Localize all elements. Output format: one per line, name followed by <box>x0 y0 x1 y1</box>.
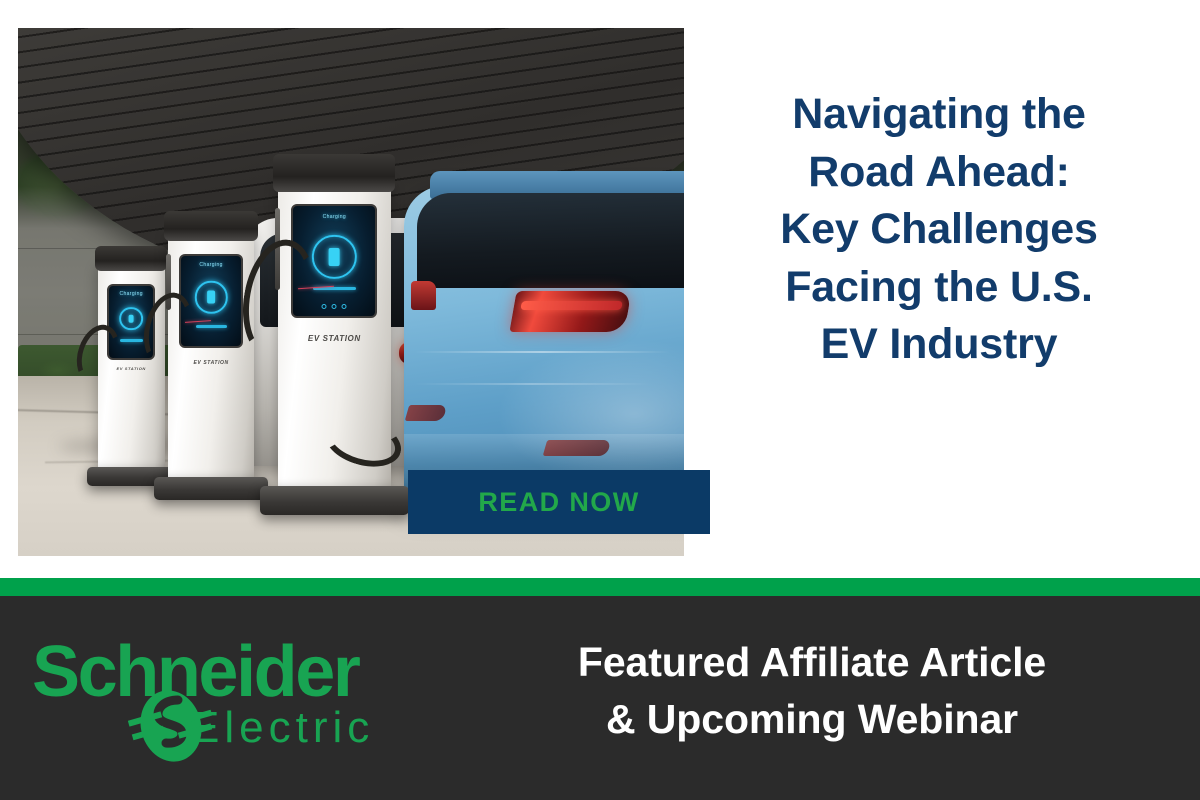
schneider-lifecycle-s-icon <box>128 688 214 764</box>
blue-car-taillight-left <box>411 281 437 310</box>
promo-card: Charging EV STATION Charging <box>0 0 1200 800</box>
blue-car-body-crease-lower <box>414 383 651 385</box>
charger-cap <box>273 154 395 192</box>
charger-status-text: Charging <box>199 262 223 268</box>
read-now-label: READ NOW <box>478 487 639 518</box>
schneider-electric-logo[interactable]: Schneider Electric <box>32 636 422 764</box>
blue-car-reflector-left <box>405 405 448 421</box>
footer-line-2: & Upcoming Webinar <box>452 691 1172 748</box>
charger-label-mid: EV STATION <box>168 360 255 366</box>
headline-line-4: Facing the U.S. <box>700 259 1178 317</box>
read-now-button[interactable]: READ NOW <box>408 470 710 534</box>
vehicle-blue-hatchback <box>404 186 684 503</box>
charger-status-text: Charging <box>323 214 347 220</box>
charger-base <box>154 477 268 500</box>
charging-ring-gauge <box>119 307 143 331</box>
footer-line-1: Featured Affiliate Article <box>452 634 1172 691</box>
charger-base <box>260 486 409 515</box>
headline-line-2: Road Ahead: <box>700 144 1178 202</box>
charging-ring-gauge <box>195 281 227 313</box>
headline-line-3: Key Challenges <box>700 201 1178 259</box>
headline-line-5: EV Industry <box>700 316 1178 374</box>
footer-headline: Featured Affiliate Article & Upcoming We… <box>452 634 1172 747</box>
hero-section: Charging EV STATION Charging <box>0 0 1200 578</box>
blue-car-taillight-right <box>509 291 631 332</box>
page-title: Navigating the Road Ahead: Key Challenge… <box>700 86 1178 374</box>
charging-ring-gauge <box>312 235 356 279</box>
headline-line-1: Navigating the <box>700 86 1178 144</box>
charger-cap <box>95 246 167 271</box>
charger-indicator-dots <box>322 304 347 309</box>
green-accent-rule <box>0 578 1200 596</box>
blue-car-rear-glass <box>417 193 684 288</box>
charger-status-text: Charging <box>119 291 143 297</box>
ev-charger-mid: Charging EV STATION <box>168 229 255 482</box>
blue-car-body-crease <box>414 351 670 353</box>
logo-subword: Electric <box>190 706 374 750</box>
charger-cap <box>164 211 258 241</box>
